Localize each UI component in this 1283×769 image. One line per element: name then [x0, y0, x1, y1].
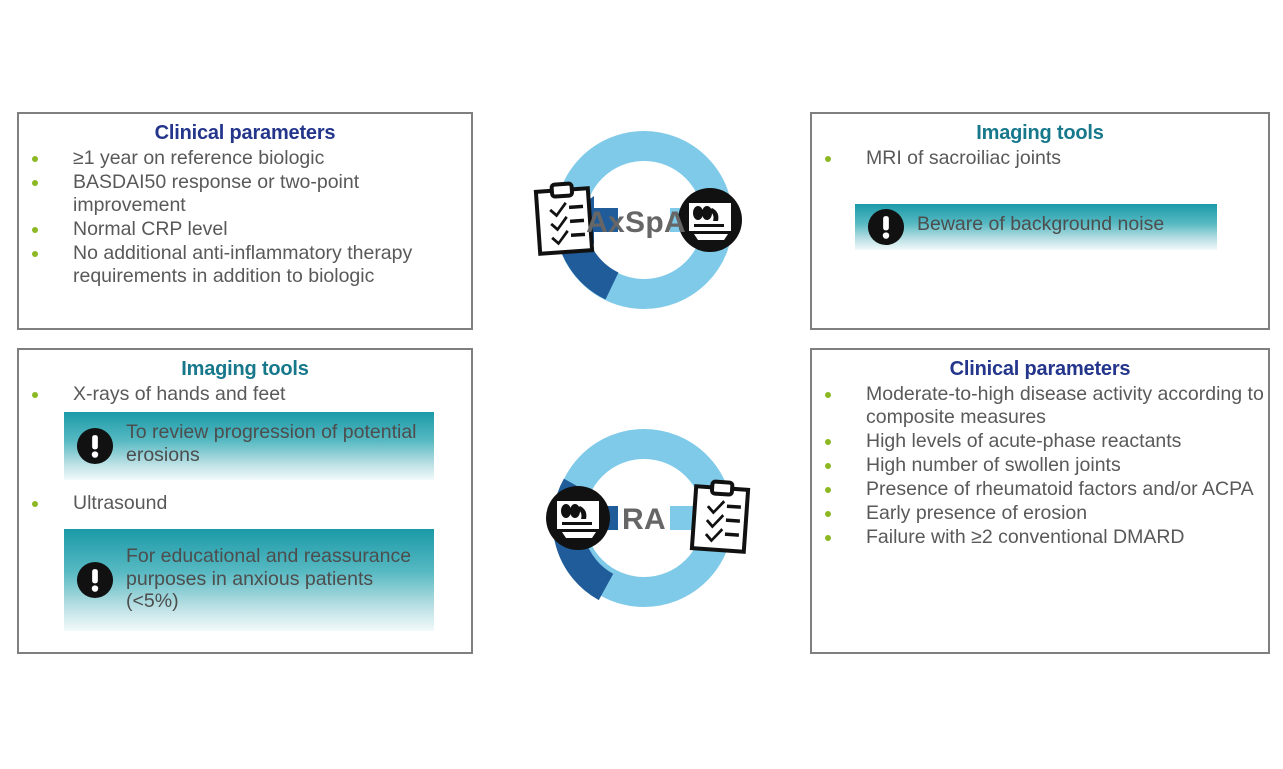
warning-exclamation-icon: [867, 208, 905, 246]
bullet-list: MRI of sacroiliac joints: [812, 147, 1268, 170]
list-item: Moderate-to-high disease activity accord…: [812, 383, 1268, 429]
cycle-diagram-ra: RA: [498, 418, 790, 640]
list-item: Failure with ≥2 conventional DMARD: [812, 526, 1268, 549]
warning-callout: Beware of background noise: [855, 204, 1217, 250]
bullet-list: ≥1 year on reference biologic BASDAI50 r…: [19, 147, 471, 288]
list-item: High number of swollen joints: [812, 454, 1268, 477]
panel-ra-clinical-parameters: Clinical parameters Moderate-to-high dis…: [810, 348, 1270, 654]
callout-text: To review progression of potential erosi…: [126, 421, 417, 466]
bullet-list: X-rays of hands and feet: [19, 383, 471, 406]
bullet-list: Moderate-to-high disease activity accord…: [812, 383, 1268, 549]
list-item: Ultrasound: [19, 492, 471, 515]
cycle-label-ra: RA: [498, 503, 790, 537]
panel-heading: Imaging tools: [19, 358, 471, 381]
panel-axspa-clinical-parameters: Clinical parameters ≥1 year on reference…: [17, 112, 473, 330]
panel-heading: Imaging tools: [812, 122, 1268, 145]
list-item: Early presence of erosion: [812, 502, 1268, 525]
list-item: Presence of rheumatoid factors and/or AC…: [812, 478, 1268, 501]
list-item: High levels of acute-phase reactants: [812, 430, 1268, 453]
callout-text: Beware of background noise: [917, 213, 1164, 235]
list-item: MRI of sacroiliac joints: [812, 147, 1268, 170]
warning-callout: To review progression of potential erosi…: [64, 412, 434, 480]
list-item: BASDAI50 response or two-point improveme…: [19, 171, 471, 217]
list-item: X-rays of hands and feet: [19, 383, 471, 406]
warning-callout: For educational and reassurance purposes…: [64, 529, 434, 631]
cycle-label-axspa: AxSpA: [490, 206, 782, 240]
callout-text: For educational and reassurance purposes…: [126, 545, 411, 612]
list-item: ≥1 year on reference biologic: [19, 147, 471, 170]
warning-exclamation-icon: [76, 427, 114, 465]
panel-heading: Clinical parameters: [812, 358, 1268, 381]
list-item: Normal CRP level: [19, 218, 471, 241]
panel-axspa-imaging-tools: Imaging tools MRI of sacroiliac joints B…: [810, 112, 1270, 330]
panel-ra-imaging-tools: Imaging tools X-rays of hands and feet T…: [17, 348, 473, 654]
panel-heading: Clinical parameters: [19, 122, 471, 145]
bullet-list: Ultrasound: [19, 492, 471, 515]
warning-exclamation-icon: [76, 561, 114, 599]
cycle-diagram-axspa: AxSpA: [498, 108, 790, 340]
list-item: No additional anti-inflammatory therapy …: [19, 242, 471, 288]
